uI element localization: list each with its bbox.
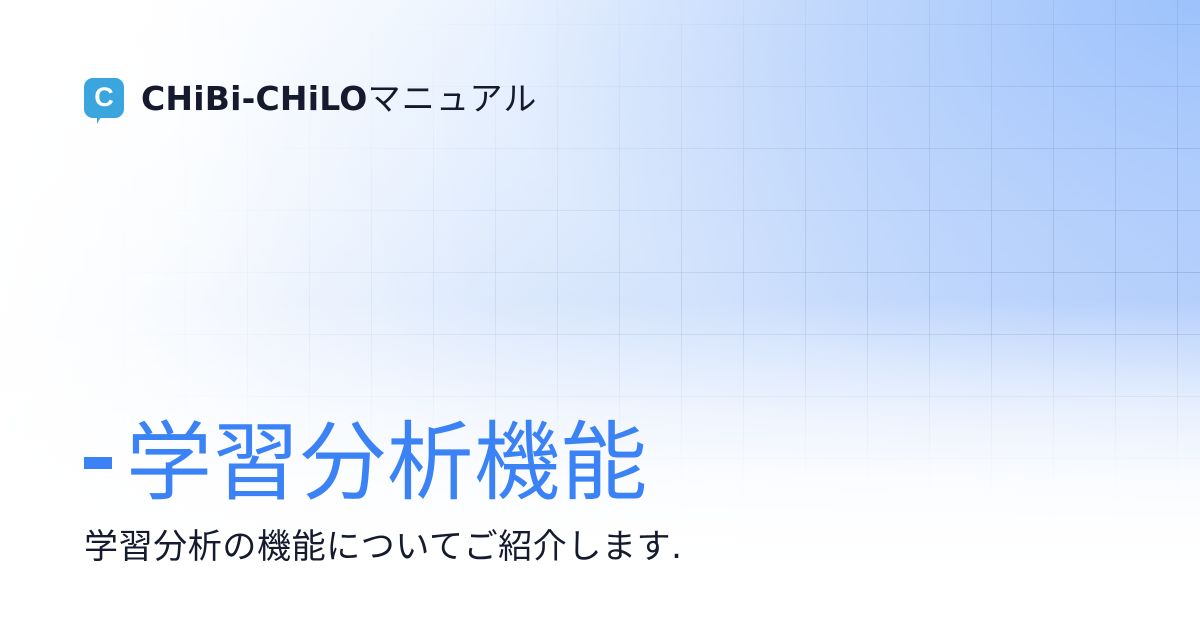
og-card: C CHiBi-CHiLO マニュアル 学習分析機能 学習分析の機能についてご紹… [0, 0, 1200, 630]
logo-letter: C [84, 78, 124, 118]
page-title-text: 学習分析機能 [126, 417, 648, 510]
brand-name-latin: CHiBi-CHiLO [141, 82, 368, 115]
page-subtitle: 学習分析の機能についてご紹介します. [84, 526, 1114, 569]
title-dash-marker [84, 457, 112, 469]
brand-header: C CHiBi-CHiLO マニュアル [84, 78, 538, 118]
brand-name-japanese: マニュアル [368, 82, 538, 115]
card-content: C CHiBi-CHiLO マニュアル 学習分析機能 学習分析の機能についてご紹… [0, 0, 1200, 630]
page-title: 学習分析機能 [84, 417, 1114, 510]
headline-block: 学習分析機能 学習分析の機能についてご紹介します. [84, 417, 1114, 568]
chibi-chilo-logo-icon: C [84, 78, 124, 118]
brand-name: CHiBi-CHiLO マニュアル [141, 82, 538, 115]
